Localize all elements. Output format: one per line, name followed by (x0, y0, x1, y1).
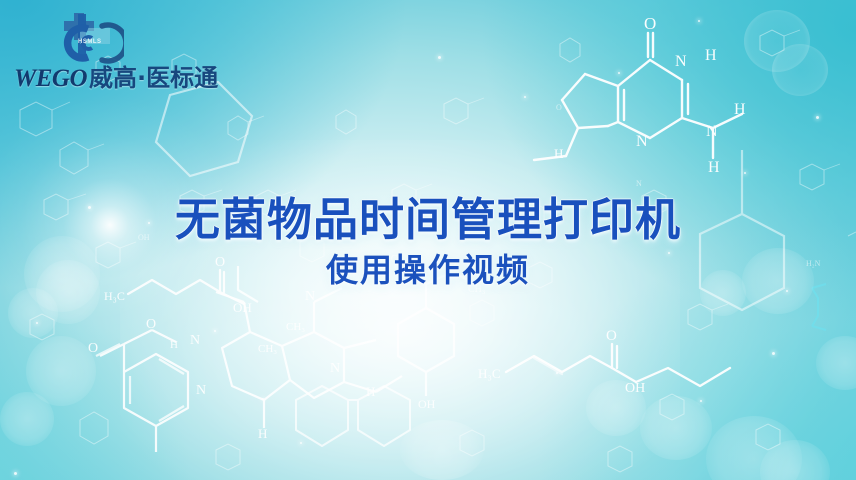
sub-title: 使用操作视频 (0, 253, 856, 288)
wego-chinese-text: 威高·医标通 (89, 66, 218, 90)
wego-wordmark: WEGO 威高·医标通 (14, 66, 204, 91)
logo-inner-text: HSMLS (78, 39, 102, 45)
video-title-slide: O N H N N H H H (0, 0, 856, 480)
wego-logo[interactable]: HSMLS WEGO 威高·医标通 (14, 12, 204, 91)
wego-b-cross-logo-icon: HSMLS (58, 12, 124, 64)
title-block: 无菌物品时间管理打印机 使用操作视频 (0, 196, 856, 288)
main-title: 无菌物品时间管理打印机 (0, 196, 856, 245)
wego-latin-text: WEGO (14, 66, 87, 91)
